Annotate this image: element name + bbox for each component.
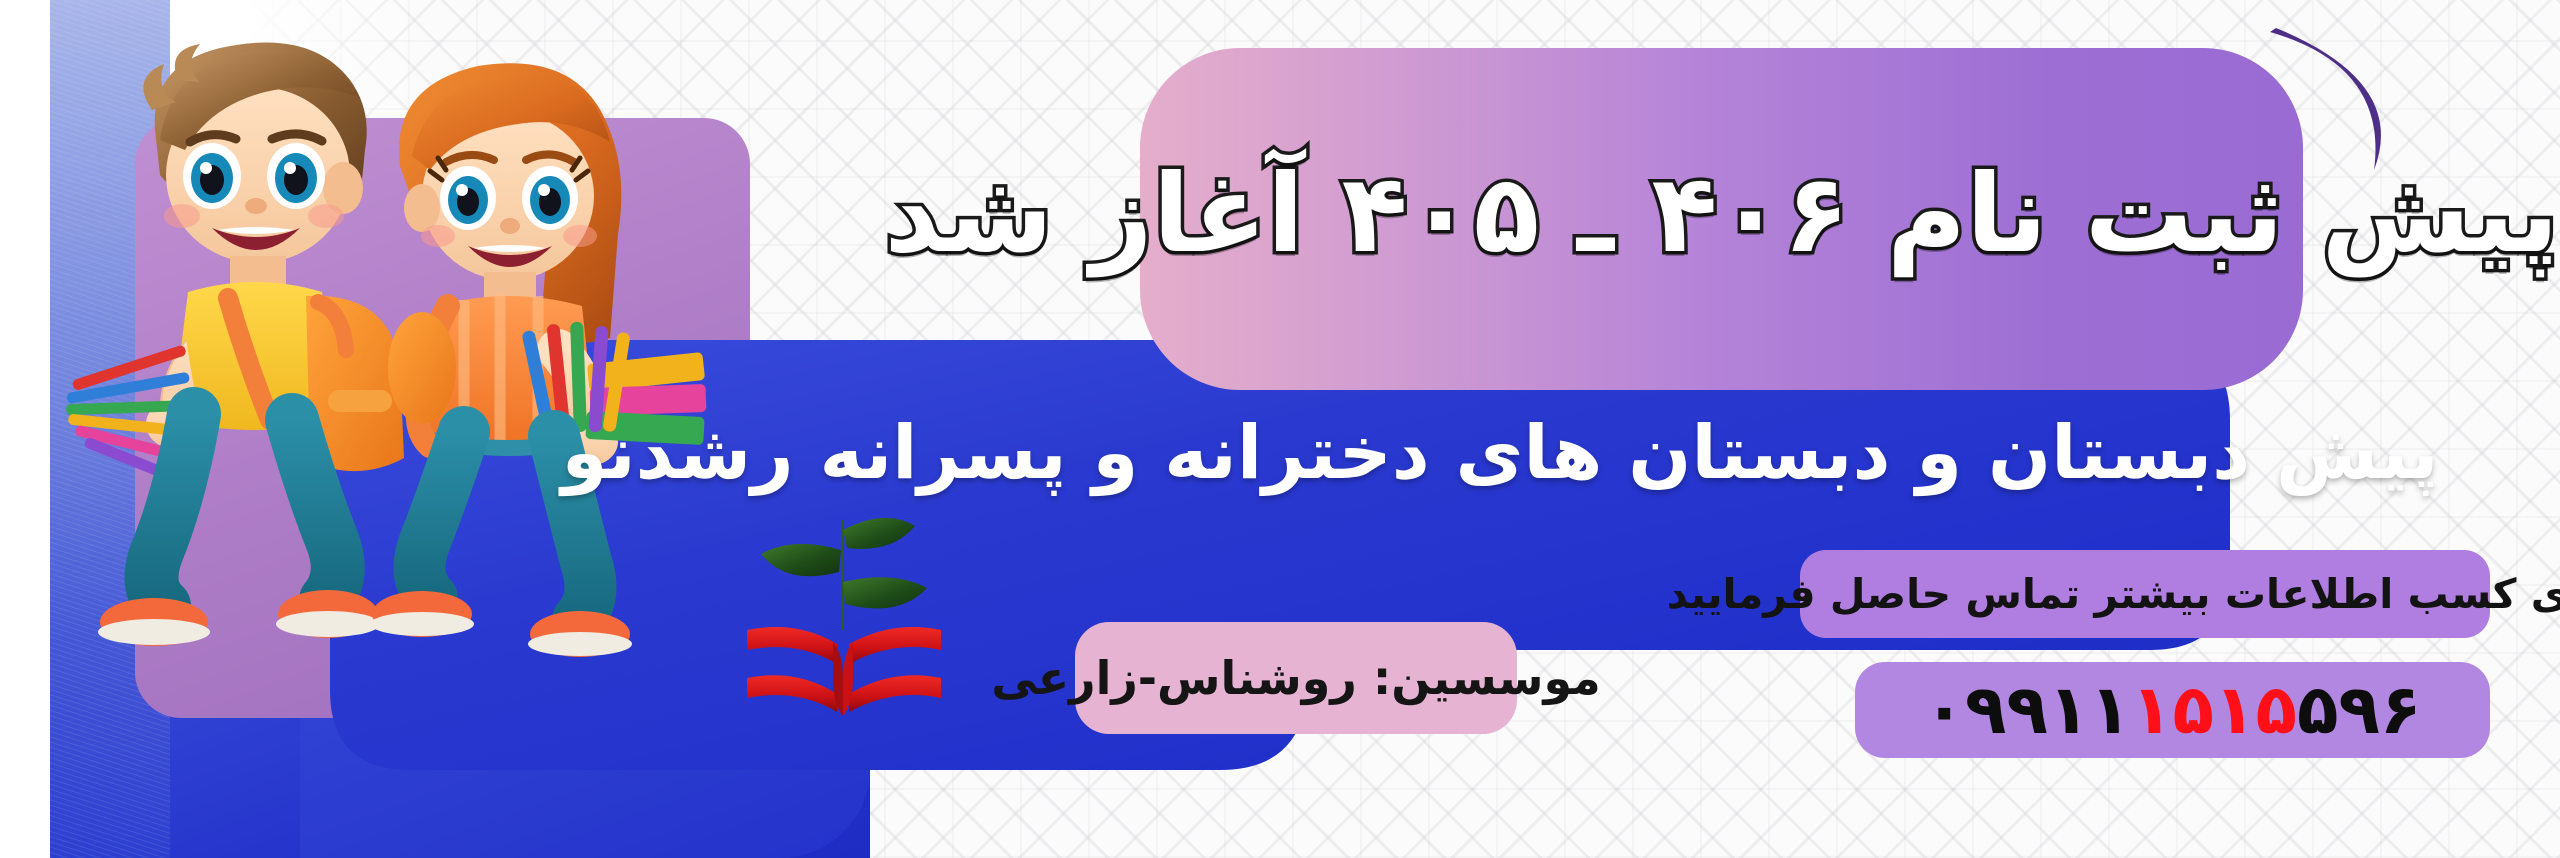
- phone-highlight: ۱۵۱۵: [2131, 671, 2297, 750]
- contact-prompt-pill: برای کسب اطلاعات بیشتر تماس حاصل فرمایید: [1800, 550, 2490, 638]
- girl-figure: [370, 63, 706, 657]
- subtitle-container: پیش دبستان و دبستان های دخترانه و پسرانه…: [780, 398, 2220, 508]
- kids-illustration: [60, 10, 750, 710]
- phone-prefix: ۰۹۹۱۱: [1923, 671, 2131, 750]
- purple-swoosh-icon: [2262, 22, 2432, 172]
- subtitle-text: پیش دبستان و دبستان های دخترانه و پسرانه…: [561, 410, 2438, 496]
- founders-badge: موسسین: روشناس-زارعی: [1075, 622, 1517, 734]
- headline-banner: پیش ثبت نام ۴۰۶ ـ ۴۰۵ آغاز شد: [1140, 48, 2303, 390]
- school-enrollment-banner: پیش ثبت نام ۴۰۶ ـ ۴۰۵ آغاز شد پیش دبستان…: [0, 0, 2560, 858]
- headline-text: پیش ثبت نام ۴۰۶ ـ ۴۰۵ آغاز شد: [884, 158, 2558, 271]
- founders-text: موسسین: روشناس-زارعی: [991, 651, 1601, 705]
- phone-suffix: ۵۹۶: [2297, 671, 2422, 750]
- contact-prompt-text: برای کسب اطلاعات بیشتر تماس حاصل فرمایید: [1667, 570, 2560, 618]
- phone-number[interactable]: ۰۹۹۱۱ ۱۵۱۵ ۵۹۶: [1923, 671, 2421, 750]
- phone-number-pill[interactable]: ۰۹۹۱۱ ۱۵۱۵ ۵۹۶: [1855, 662, 2490, 758]
- boy-figure: [66, 42, 404, 646]
- school-logo-icon: [745, 512, 975, 752]
